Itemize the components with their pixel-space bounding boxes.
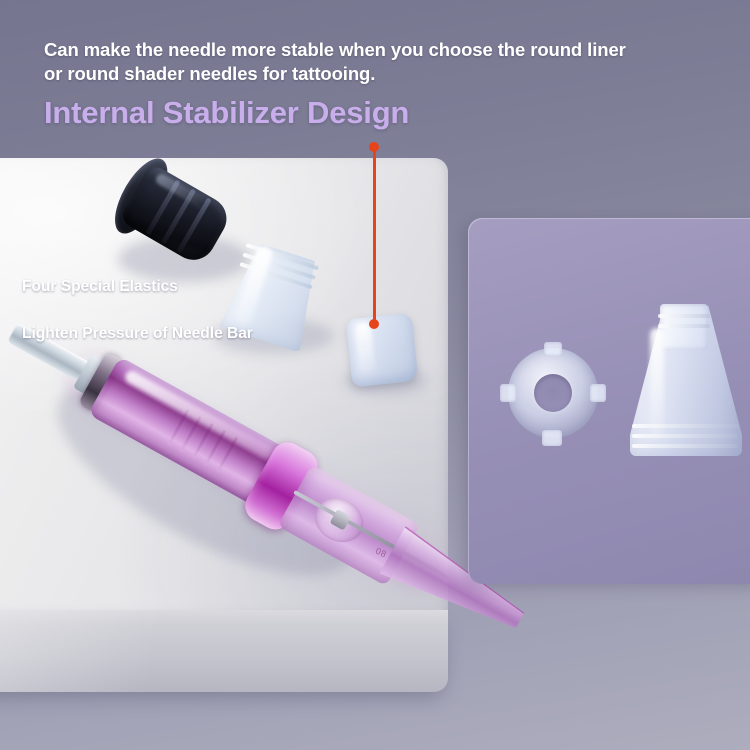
page-title: Internal Stabilizer Design [44, 97, 744, 130]
panel-label-pressure: Lighten Pressure of Needle Bar [22, 325, 292, 344]
membrane-cap-ring [658, 324, 710, 328]
membrane-cap-ring [658, 314, 710, 318]
elastic-tab [590, 384, 606, 402]
subheadline-line-1: Can make the needle more stable when you… [44, 38, 744, 62]
elastics-ring-hole [534, 374, 572, 412]
purple-cartridge: 08 [0, 318, 510, 618]
callout-dot-bottom [369, 319, 379, 329]
elastics-ring-part [500, 342, 606, 448]
callout-line [373, 147, 376, 327]
elastic-tab [544, 342, 562, 356]
membrane-cap-part [628, 288, 744, 458]
panel-label-elastics: Four Special Elastics [22, 278, 292, 297]
elastic-tab [500, 384, 516, 402]
copy-block: Can make the needle more stable when you… [44, 38, 744, 130]
subheadline: Can make the needle more stable when you… [44, 38, 744, 86]
membrane-cap-ring [632, 444, 738, 448]
membrane-cap-ring [632, 424, 738, 428]
elastic-tab [542, 430, 562, 446]
subheadline-line-2: or round shader needles for tattooing. [44, 62, 744, 86]
callout-pointer [367, 141, 381, 331]
membrane-cap-highlight [650, 328, 664, 440]
product-feature-image: 08 Four Special Elastics Lighten Pressur… [0, 0, 750, 750]
panel-label-group: Four Special Elastics Lighten Pressure o… [22, 278, 292, 343]
membrane-cap-ring [632, 434, 738, 438]
